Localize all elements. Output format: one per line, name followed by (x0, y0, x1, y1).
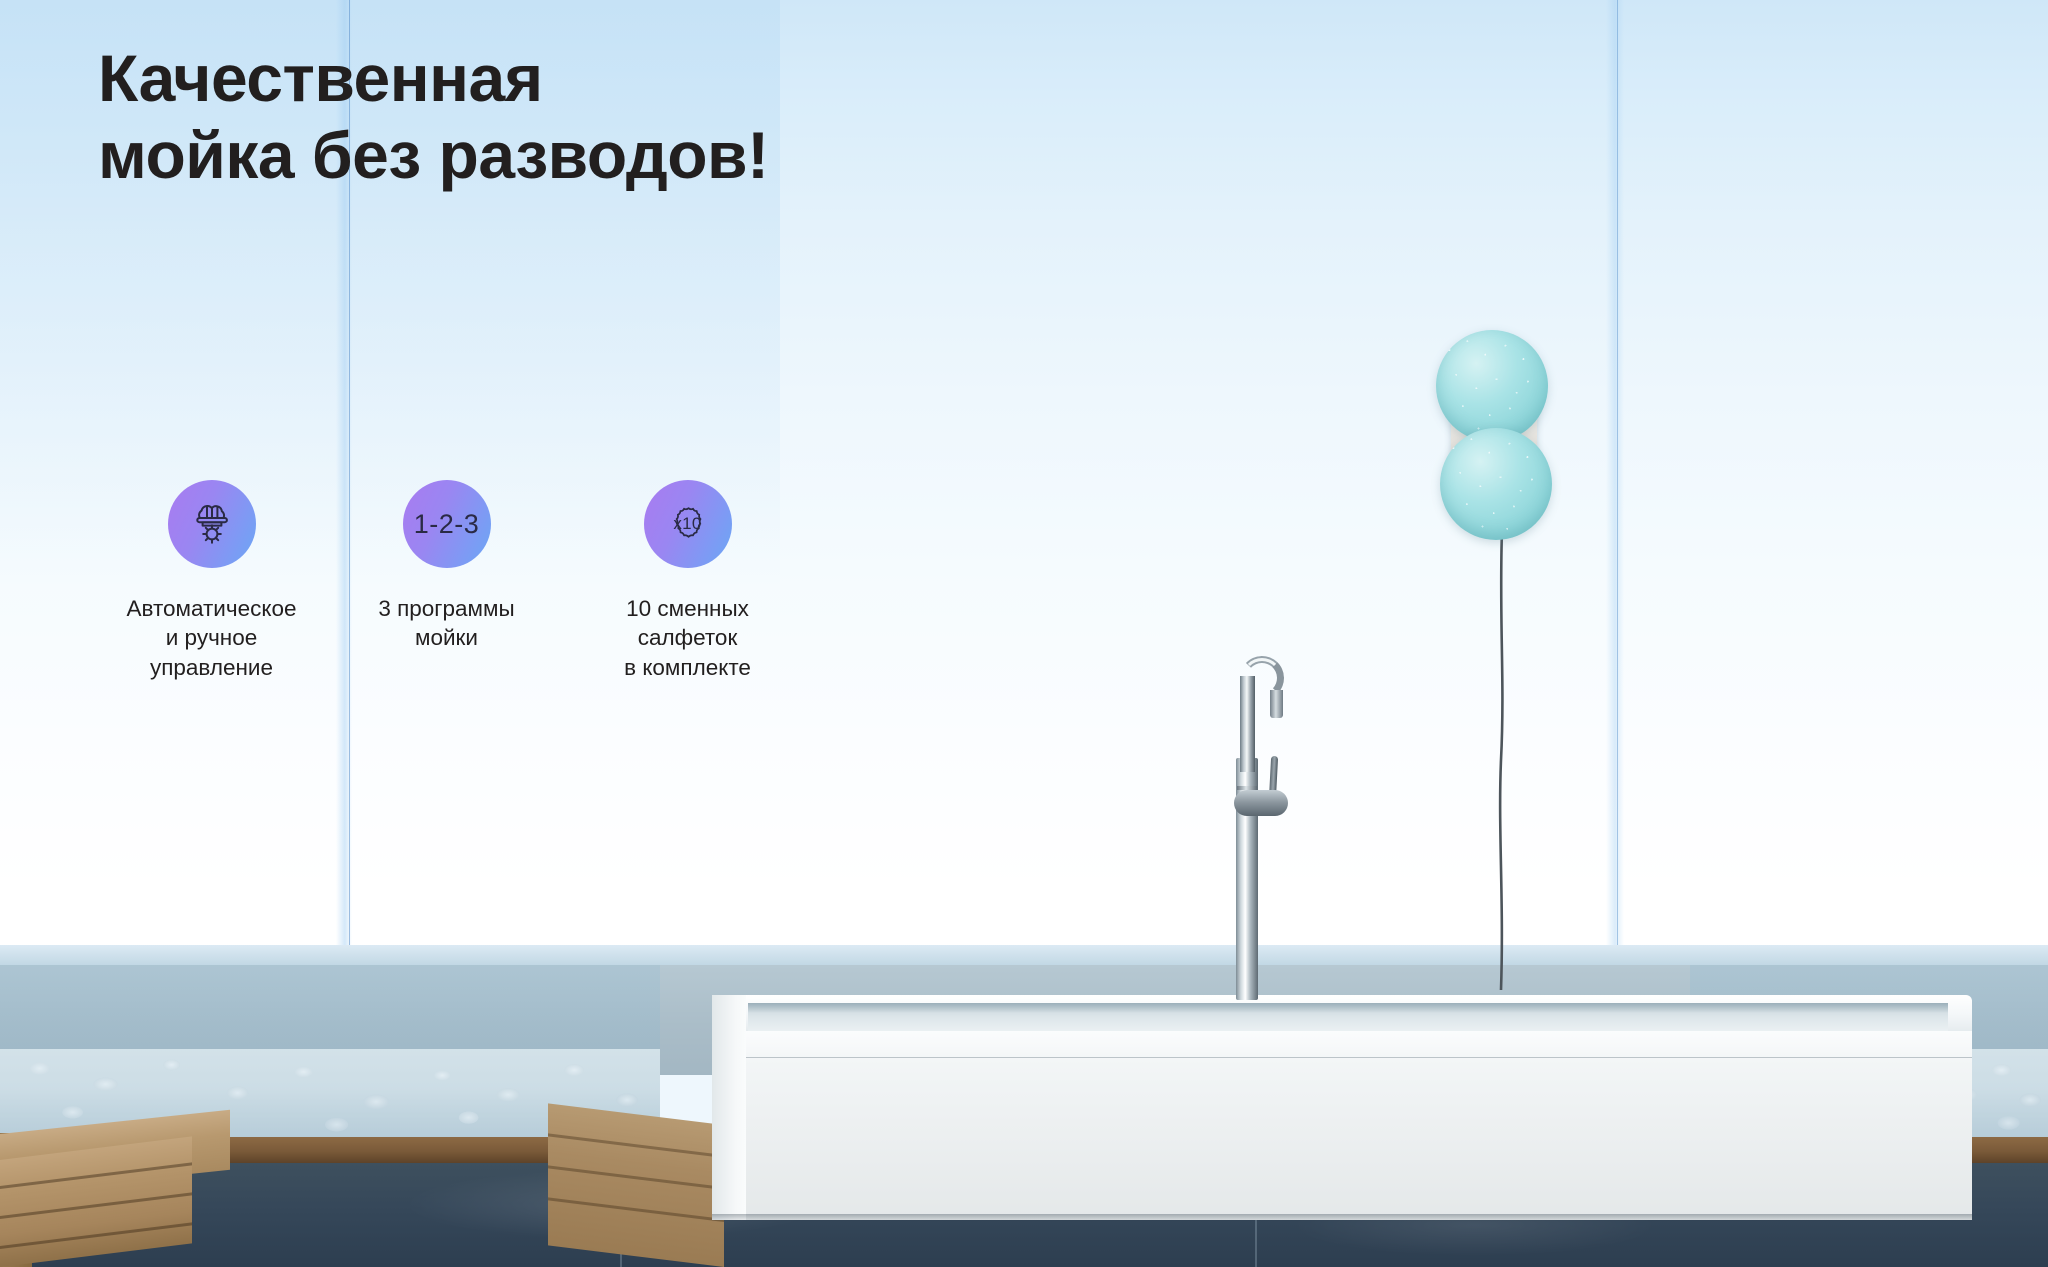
page-title: Качественная мойка без разводов! (98, 40, 769, 193)
feature-badge-3: x10 (644, 480, 732, 568)
feature-list: Автоматическое и ручное управление 1-2-3… (98, 480, 801, 682)
bathtub-front-panel (712, 1031, 1972, 1220)
wooden-deck-step (548, 1103, 724, 1267)
bench-plank-seam (0, 1162, 192, 1189)
feature-item-wash-programs: 1-2-3 3 программы мойки (333, 480, 560, 682)
x10-label: x10 (673, 514, 701, 534)
bathtub-shadow (712, 1214, 1972, 1222)
bathtub-panel-seam (712, 1057, 1972, 1058)
deck-plank-seam (548, 1165, 724, 1190)
floor-mounted-faucet (1214, 640, 1304, 1000)
faucet-mixer-body (1234, 790, 1288, 816)
robot-power-cord (1488, 530, 1491, 988)
feature-item-replacement-cloths: x10 10 сменных салфеток в комплекте (574, 480, 801, 682)
feature-badge-1 (168, 480, 256, 568)
deck-plank-seam (548, 1197, 724, 1222)
feature-caption-3: 10 сменных салфеток в комплекте (624, 594, 751, 682)
faucet-spout (1270, 690, 1283, 718)
deck-plank-seam (548, 1133, 724, 1158)
promo-scene: Качественная мойка без разводов! (0, 0, 2048, 1267)
bench-plank-seam (0, 1222, 192, 1249)
bathtub-left-edge (712, 995, 746, 1220)
bathtub (712, 995, 1972, 1220)
bench-plank-seam (0, 1192, 192, 1219)
window-cleaning-robot (1428, 330, 1560, 540)
bathtub-interior-shadow (748, 1003, 1948, 1013)
glass-mullion-halo-right (1606, 0, 1624, 945)
programs-1-2-3-icon: 1-2-3 (414, 509, 480, 540)
microfiber-pad-bottom (1440, 428, 1552, 540)
glass-mullion-right (1617, 0, 1618, 945)
brain-gear-icon (186, 496, 238, 553)
feature-caption-1: Автоматическое и ручное управление (126, 594, 296, 682)
feature-caption-2: 3 программы мойки (378, 594, 514, 653)
feature-badge-2: 1-2-3 (403, 480, 491, 568)
window-sill-glow (0, 945, 2048, 967)
feature-item-automatic-manual-control: Автоматическое и ручное управление (98, 480, 325, 682)
microfiber-pad-top (1436, 330, 1548, 442)
